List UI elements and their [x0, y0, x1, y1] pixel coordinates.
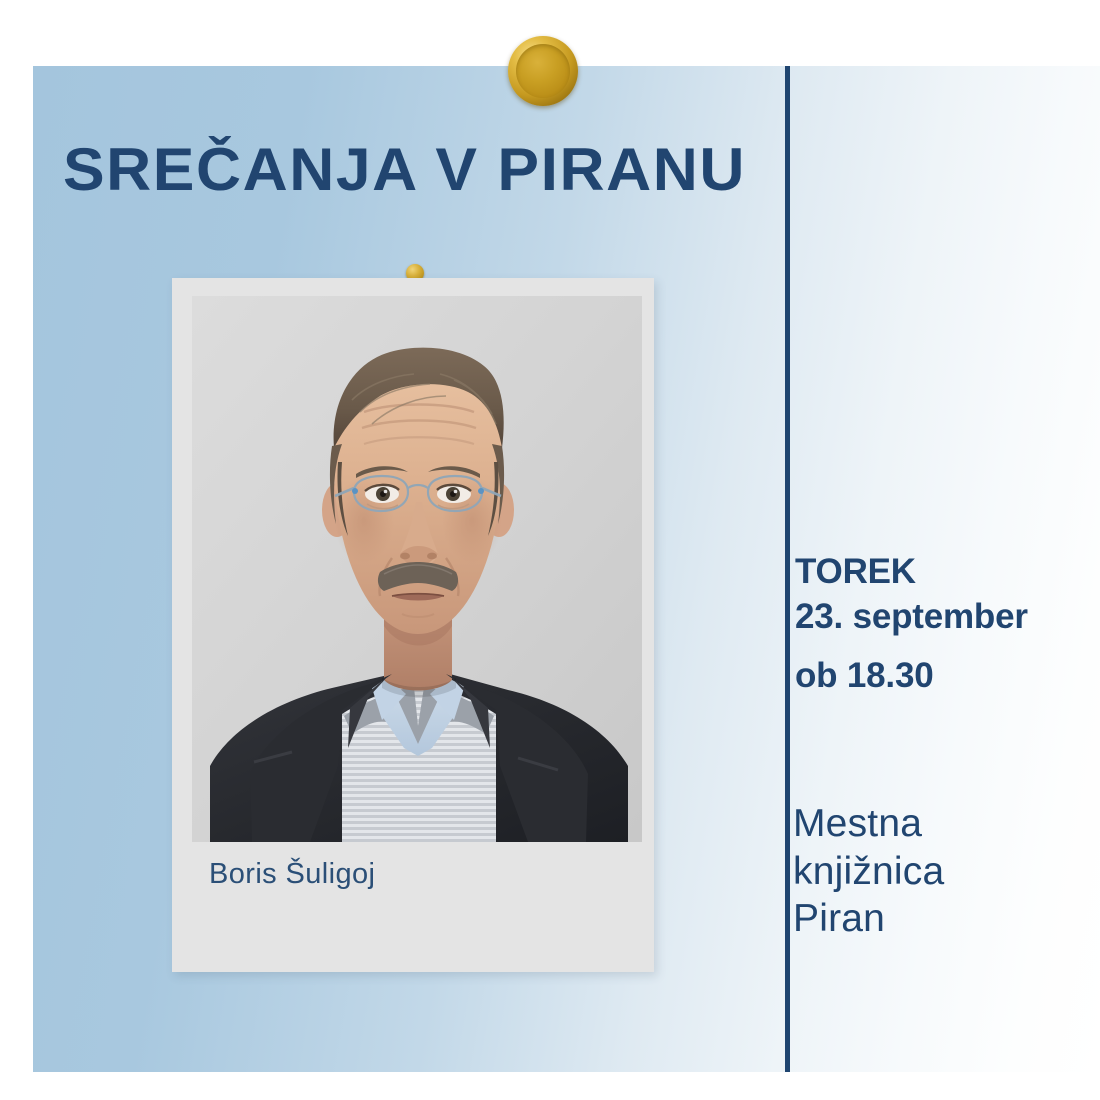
poster-canvas: SREČANJA V PIRANU: [0, 0, 1100, 1100]
gold-pin-icon: [508, 36, 578, 106]
photo-frame: Boris Šuligoj: [172, 278, 654, 972]
event-time: ob 18.30: [795, 654, 1095, 699]
event-date-block: TOREK 23. september ob 18.30: [795, 550, 1095, 698]
venue-block: Mestna knjižnica Piran: [793, 800, 1083, 943]
page-title: SREČANJA V PIRANU: [63, 140, 791, 200]
venue-line-3: Piran: [793, 895, 1083, 943]
portrait-photo: [192, 296, 642, 842]
photo-caption: Boris Šuligoj: [209, 858, 375, 891]
event-date: 23. september: [795, 595, 1095, 640]
venue-line-2: knjižnica: [793, 848, 1083, 896]
venue-line-1: Mestna: [793, 800, 1083, 848]
event-day: TOREK: [795, 550, 1095, 595]
vertical-divider: [785, 66, 790, 1072]
